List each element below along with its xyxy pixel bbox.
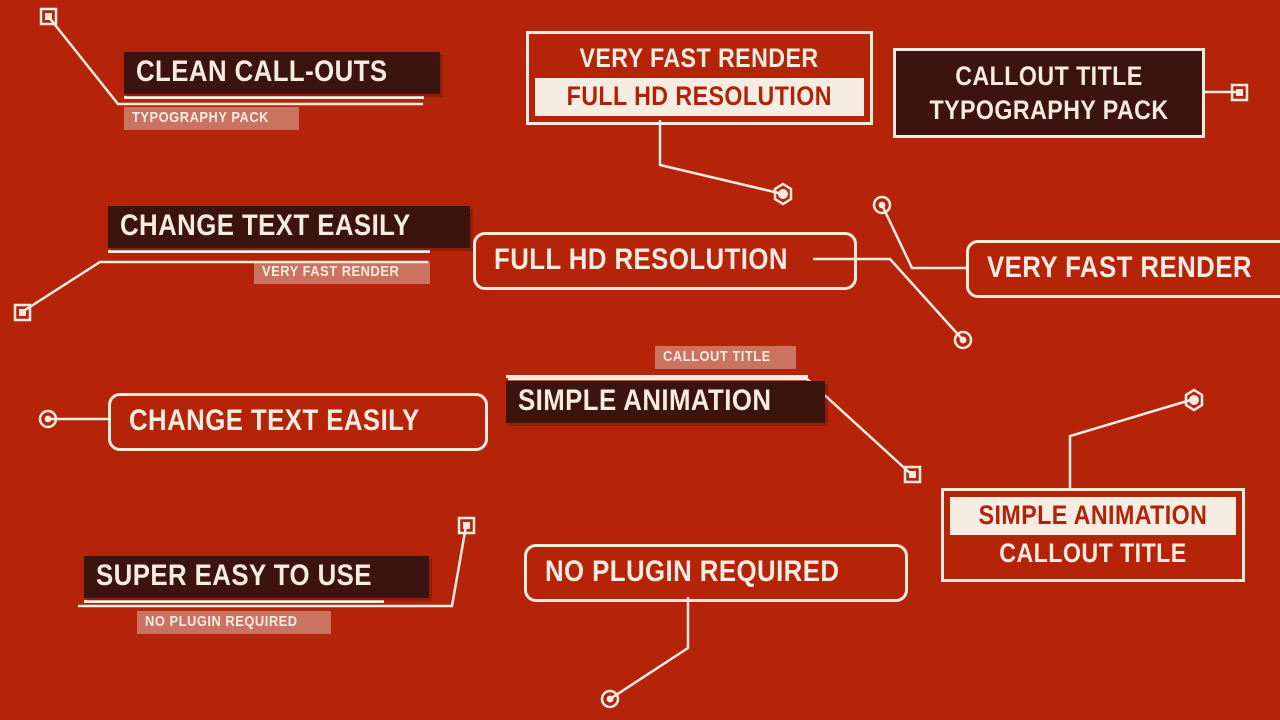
callout-subtitle-chip: TYPOGRAPHY PACK bbox=[124, 107, 299, 130]
callout-line-1: CALLOUT TITLE bbox=[910, 59, 1188, 93]
callout-rule bbox=[124, 96, 424, 99]
callout-very-fast-render-full-hd[interactable]: VERY FAST RENDER FULL HD RESOLUTION bbox=[526, 31, 873, 125]
callout-title-bar: CLEAN CALL-OUTS bbox=[124, 52, 440, 94]
callout-line-1: VERY FAST RENDER bbox=[535, 40, 864, 78]
callout-title-text: CLEAN CALL-OUTS bbox=[136, 56, 388, 88]
callout-box: CALLOUT TITLE TYPOGRAPHY PACK bbox=[893, 48, 1205, 138]
callout-change-text-easily-bar[interactable]: CHANGE TEXT EASILY VERY FAST RENDER bbox=[108, 206, 470, 284]
callout-subtitle-text: CALLOUT TITLE bbox=[663, 348, 771, 366]
callout-title-text: VERY FAST RENDER bbox=[987, 252, 1252, 284]
callout-rule bbox=[84, 600, 384, 603]
callout-preview-canvas: CLEAN CALL-OUTS TYPOGRAPHY PACK VERY FAS… bbox=[0, 0, 1280, 720]
callout-simple-animation-bar[interactable]: CALLOUT TITLE SIMPLE ANIMATION bbox=[506, 346, 825, 423]
callout-subtitle-chip: NO PLUGIN REQUIRED bbox=[137, 611, 330, 634]
callout-line-1: SIMPLE ANIMATION bbox=[950, 497, 1236, 535]
callout-subtitle-text: TYPOGRAPHY PACK bbox=[132, 109, 269, 127]
callout-simple-animation-callout-title[interactable]: SIMPLE ANIMATION CALLOUT TITLE bbox=[941, 488, 1245, 582]
callout-title-text: FULL HD RESOLUTION bbox=[494, 244, 788, 276]
callout-subtitle-chip-wrap: NO PLUGIN REQUIRED bbox=[84, 611, 384, 634]
callout-title-text: SIMPLE ANIMATION bbox=[518, 385, 771, 417]
callout-change-text-easily-pill[interactable]: CHANGE TEXT EASILY bbox=[108, 393, 488, 451]
callout-title-text: CHANGE TEXT EASILY bbox=[129, 405, 420, 437]
callout-no-plugin-required-pill[interactable]: NO PLUGIN REQUIRED bbox=[524, 544, 908, 602]
callout-subtitle-text: NO PLUGIN REQUIRED bbox=[145, 613, 298, 631]
callout-line-2: FULL HD RESOLUTION bbox=[535, 78, 864, 116]
callout-pill: VERY FAST RENDER bbox=[966, 240, 1280, 298]
callout-subtitle-chip-wrap: CALLOUT TITLE bbox=[506, 346, 796, 369]
callout-rule bbox=[506, 375, 808, 378]
callout-line-2: TYPOGRAPHY PACK bbox=[910, 93, 1188, 127]
callout-title-bar: SIMPLE ANIMATION bbox=[506, 381, 825, 423]
callout-box: SIMPLE ANIMATION CALLOUT TITLE bbox=[941, 488, 1245, 582]
callout-title-text: NO PLUGIN REQUIRED bbox=[545, 556, 839, 588]
callout-title-bar: CHANGE TEXT EASILY bbox=[108, 206, 470, 248]
callout-pill: FULL HD RESOLUTION bbox=[473, 232, 857, 290]
callout-title-text: CHANGE TEXT EASILY bbox=[120, 210, 411, 242]
callout-subtitle-chip: VERY FAST RENDER bbox=[254, 261, 430, 284]
callout-subtitle-chip-wrap: TYPOGRAPHY PACK bbox=[124, 107, 440, 130]
callout-super-easy-to-use[interactable]: SUPER EASY TO USE NO PLUGIN REQUIRED bbox=[84, 556, 429, 634]
callout-very-fast-render-pill[interactable]: VERY FAST RENDER bbox=[966, 240, 1280, 298]
callout-title-bar: SUPER EASY TO USE bbox=[84, 556, 429, 598]
callout-full-hd-resolution-pill[interactable]: FULL HD RESOLUTION bbox=[473, 232, 857, 290]
callout-callout-title-typography-pack[interactable]: CALLOUT TITLE TYPOGRAPHY PACK bbox=[893, 48, 1205, 138]
callout-subtitle-chip: CALLOUT TITLE bbox=[655, 346, 796, 369]
callout-rule bbox=[108, 250, 430, 253]
callout-subtitle-text: VERY FAST RENDER bbox=[262, 263, 399, 281]
callout-clean-call-outs[interactable]: CLEAN CALL-OUTS TYPOGRAPHY PACK bbox=[124, 52, 440, 130]
callout-title-text: SUPER EASY TO USE bbox=[96, 560, 372, 592]
callout-line-2: CALLOUT TITLE bbox=[950, 535, 1236, 573]
callout-pill: NO PLUGIN REQUIRED bbox=[524, 544, 908, 602]
callout-pill: CHANGE TEXT EASILY bbox=[108, 393, 488, 451]
callout-subtitle-chip-wrap: VERY FAST RENDER bbox=[108, 261, 430, 284]
callout-box: VERY FAST RENDER FULL HD RESOLUTION bbox=[526, 31, 873, 125]
